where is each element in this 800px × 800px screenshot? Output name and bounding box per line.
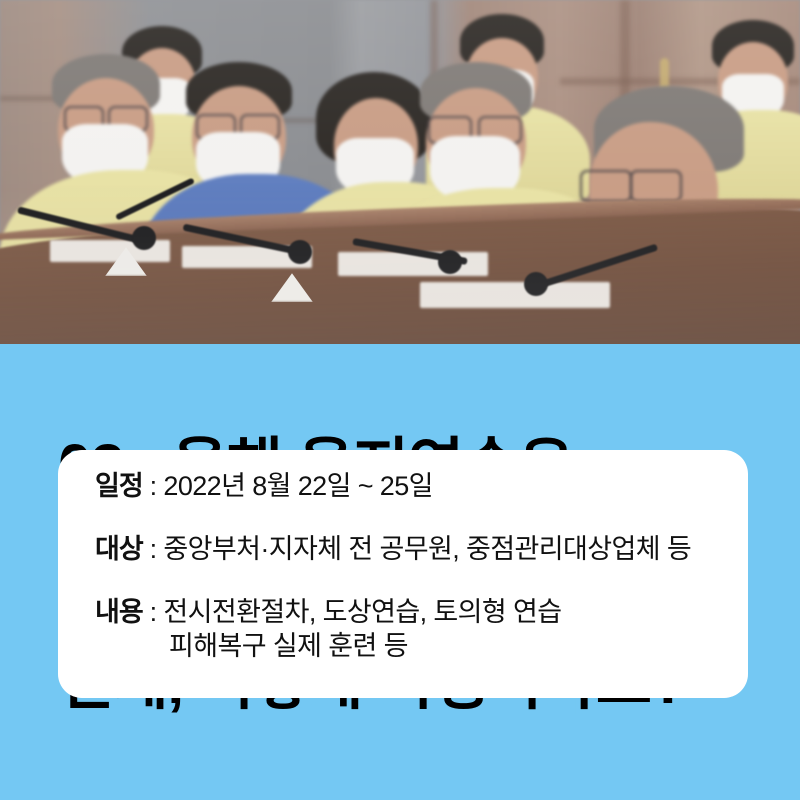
info-row-content-value: 전시전환절차, 도상연습, 토의형 연습: [163, 597, 561, 627]
info-row-content-continuation: 피해복구 실제 훈련 등: [95, 629, 738, 663]
info-row-schedule-label: 일정: [95, 471, 143, 501]
info-card: 일정 : 2022년 8월 22일 ~ 25일 대상 : 중앙부처·지자체 전 …: [58, 450, 748, 698]
info-card-rows: 일정 : 2022년 8월 22일 ~ 25일 대상 : 중앙부처·지자체 전 …: [95, 469, 738, 663]
info-row-content-label: 내용: [95, 597, 143, 627]
info-row-target-value: 중앙부처·지자체 전 공무원, 중점관리대상업체 등: [163, 534, 691, 564]
poster-card: 03. 올해 을지연습은 언제, 어떻게 시행되나요? 일정 : 2022년 8…: [0, 0, 800, 800]
info-row-schedule: 일정 : 2022년 8월 22일 ~ 25일: [95, 469, 738, 503]
info-row-target-label: 대상: [95, 534, 143, 564]
microphone-head: [288, 240, 312, 264]
info-row-content: 내용 : 전시전환절차, 도상연습, 토의형 연습 피해복구 실제 훈련 등: [95, 595, 738, 663]
info-row-schedule-value: 2022년 8월 22일 ~ 25일: [163, 471, 432, 501]
info-row-target: 대상 : 중앙부처·지자체 전 공무원, 중점관리대상업체 등: [95, 532, 738, 566]
info-row-schedule-separator: :: [143, 471, 164, 501]
microphone-head: [438, 250, 462, 274]
info-row-content-separator: :: [143, 597, 164, 627]
info-row-target-separator: :: [143, 534, 164, 564]
microphone-head: [132, 226, 156, 250]
